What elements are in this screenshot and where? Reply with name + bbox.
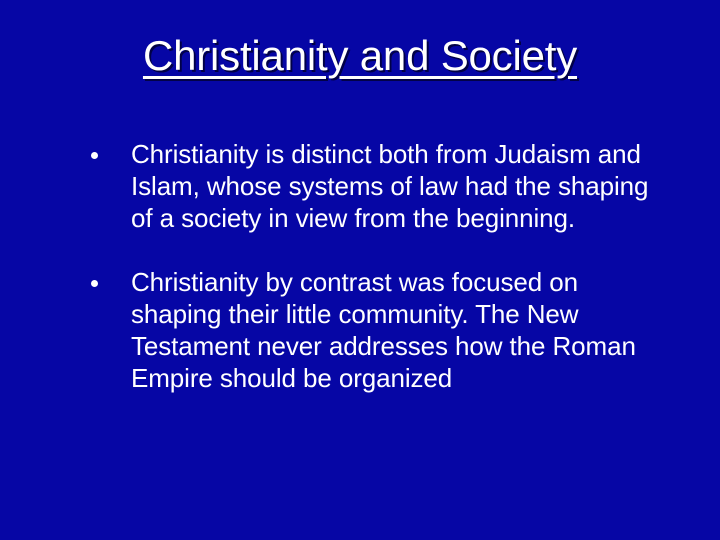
list-item: Christianity is distinct both from Judai…	[85, 138, 685, 234]
list-item-text: Christianity by contrast was focused on …	[131, 266, 661, 394]
page-title: Christianity and Society	[0, 32, 720, 80]
list-item: Christianity by contrast was focused on …	[85, 266, 685, 394]
bullet-point-icon	[85, 266, 131, 299]
bullet-list: Christianity is distinct both from Judai…	[85, 138, 685, 394]
bullet-point-icon	[85, 138, 131, 171]
list-item-text: Christianity is distinct both from Judai…	[131, 138, 661, 234]
presentation-slide: Christianity and Society Christianity is…	[0, 0, 720, 540]
page-title-text: Christianity and Society	[143, 32, 577, 79]
